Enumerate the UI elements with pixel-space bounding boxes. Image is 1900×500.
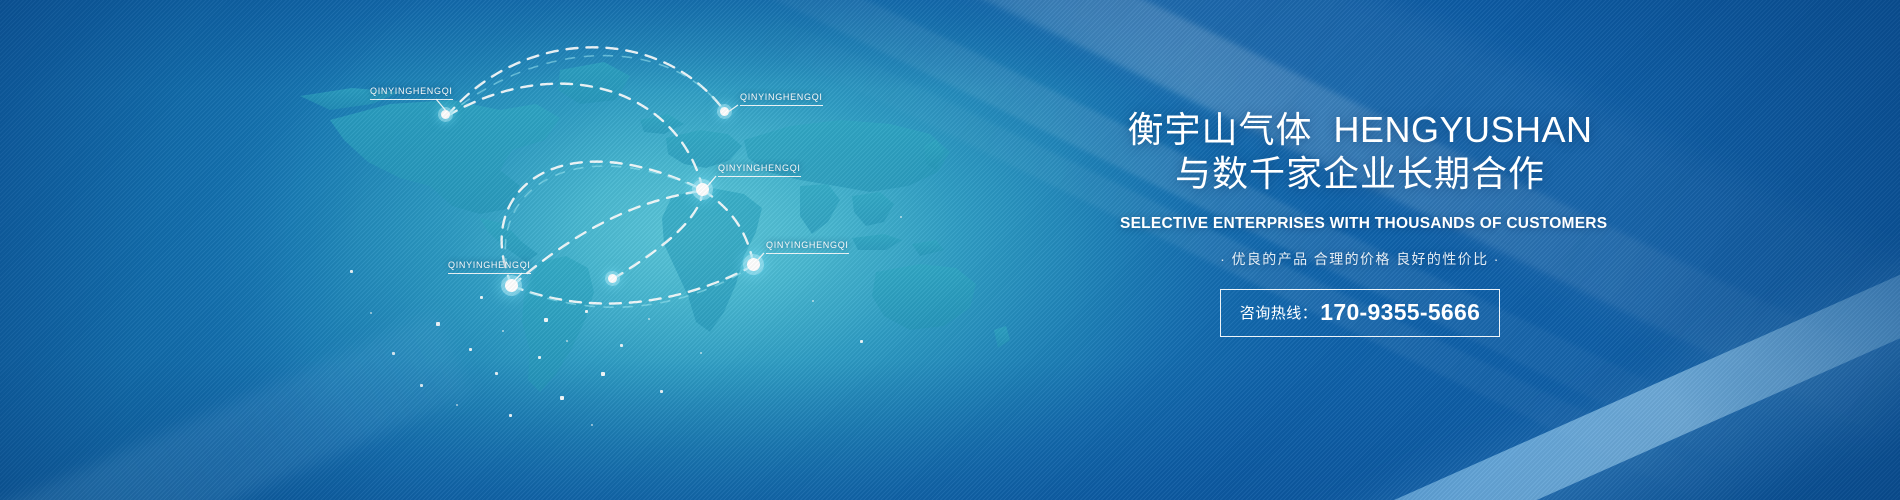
hotline-label: 咨询热线： [1240, 305, 1318, 322]
particle-dot [370, 312, 372, 314]
subtitle-english: SELECTIVE ENTERPRISES WITH THOUSANDS OF … [1120, 215, 1600, 233]
particle-dot [392, 352, 395, 355]
particle-dot [420, 384, 423, 387]
particle-dot [502, 330, 504, 332]
particle-dot [495, 372, 498, 375]
map-node [505, 279, 518, 292]
headline-line-2: 与数千家企业长期合作 [1120, 152, 1600, 196]
particle-dot [560, 396, 564, 400]
background-gradient-vertical [0, 0, 1900, 500]
map-label: QINYINGHENGQI [740, 92, 823, 106]
headline-english: HENGYUSHAN [1333, 109, 1592, 150]
particle-dot [601, 372, 605, 376]
particle-dot [480, 296, 483, 299]
tagline: · 优良的产品 合理的价格 良好的性价比 · [1120, 249, 1600, 269]
map-label: QINYINGHENGQI [370, 86, 453, 100]
particle-dot [509, 414, 512, 417]
particle-dot [585, 310, 588, 313]
map-label: QINYINGHENGQI [718, 163, 801, 177]
hotline-box[interactable]: 咨询热线：170-9355-5666 [1220, 289, 1500, 337]
particle-dot [538, 356, 541, 359]
particle-dot [350, 270, 353, 273]
map-label: QINYINGHENGQI [766, 240, 849, 254]
particle-dot [436, 322, 440, 326]
particle-dot [860, 340, 863, 343]
particle-dot [566, 340, 568, 342]
map-label: QINYINGHENGQI [448, 260, 531, 274]
particle-dot [900, 216, 902, 218]
particle-dot [660, 390, 663, 393]
particle-dot [648, 318, 650, 320]
particle-dot [591, 424, 593, 426]
map-node [720, 107, 729, 116]
headline-chinese: 衡宇山气体 [1127, 109, 1312, 150]
particle-dot [620, 344, 623, 347]
particle-dot [812, 300, 814, 302]
map-node [747, 258, 760, 271]
map-node [441, 110, 450, 119]
banner-text-block: 衡宇山气体 HENGYUSHAN 与数千家企业长期合作 SELECTIVE EN… [1120, 108, 1600, 337]
particle-dot [700, 352, 702, 354]
hotline-number: 170-9355-5666 [1320, 299, 1480, 325]
hero-banner: QINYINGHENGQI QINYINGHENGQI QINYINGHENGQ… [0, 0, 1900, 500]
headline-line-1: 衡宇山气体 HENGYUSHAN [1120, 108, 1600, 152]
particle-dot [469, 348, 472, 351]
map-node [608, 274, 617, 283]
particle-dot [544, 318, 548, 322]
particle-dot [456, 404, 458, 406]
map-node [696, 183, 709, 196]
